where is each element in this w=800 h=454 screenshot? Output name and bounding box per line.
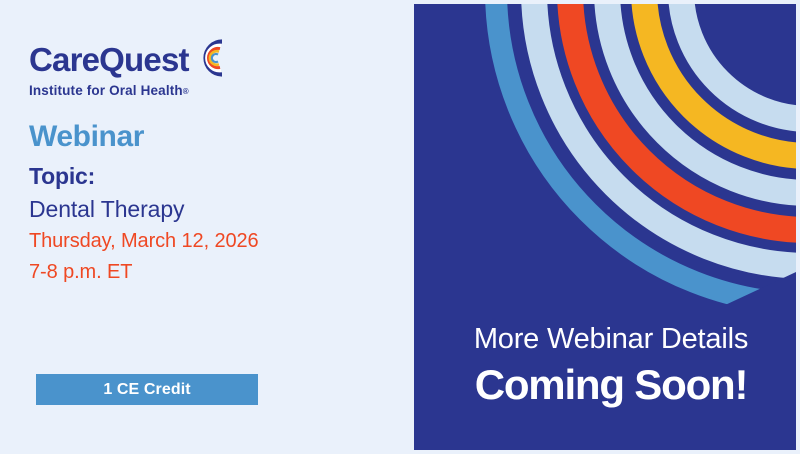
- topic-label: Topic:: [29, 160, 389, 192]
- logo-wordmark-text: CareQuest: [29, 40, 189, 80]
- logo-tagline-text: Institute for Oral Health®: [29, 83, 229, 98]
- logo-tagline-label: Institute for Oral Health: [29, 83, 183, 98]
- webinar-promo-card: CareQuest Institute for Oral Health®: [0, 0, 800, 454]
- left-info-panel: CareQuest Institute for Oral Health®: [0, 0, 414, 454]
- ce-credit-badge-label: 1 CE Credit: [103, 381, 190, 399]
- ce-credit-badge[interactable]: 1 CE Credit: [36, 374, 258, 405]
- webinar-details-text: Webinar Topic: Dental Therapy Thursday, …: [29, 118, 389, 288]
- event-time: 7-8 p.m. ET: [29, 257, 389, 288]
- webinar-heading: Webinar: [29, 118, 389, 156]
- right-graphic-panel: More Webinar Details Coming Soon!: [414, 4, 796, 450]
- carequest-c-arcs-icon: [188, 36, 232, 80]
- coming-soon-block: More Webinar Details Coming Soon!: [438, 320, 784, 410]
- logo-wordmark-row: CareQuest: [29, 40, 229, 82]
- carequest-logo: CareQuest Institute for Oral Health®: [29, 40, 229, 98]
- registered-trademark-icon: ®: [183, 87, 189, 96]
- topic-value: Dental Therapy: [29, 192, 389, 226]
- event-date: Thursday, March 12, 2026: [29, 226, 389, 257]
- coming-soon-line: Coming Soon!: [438, 360, 784, 410]
- more-details-line: More Webinar Details: [438, 320, 784, 358]
